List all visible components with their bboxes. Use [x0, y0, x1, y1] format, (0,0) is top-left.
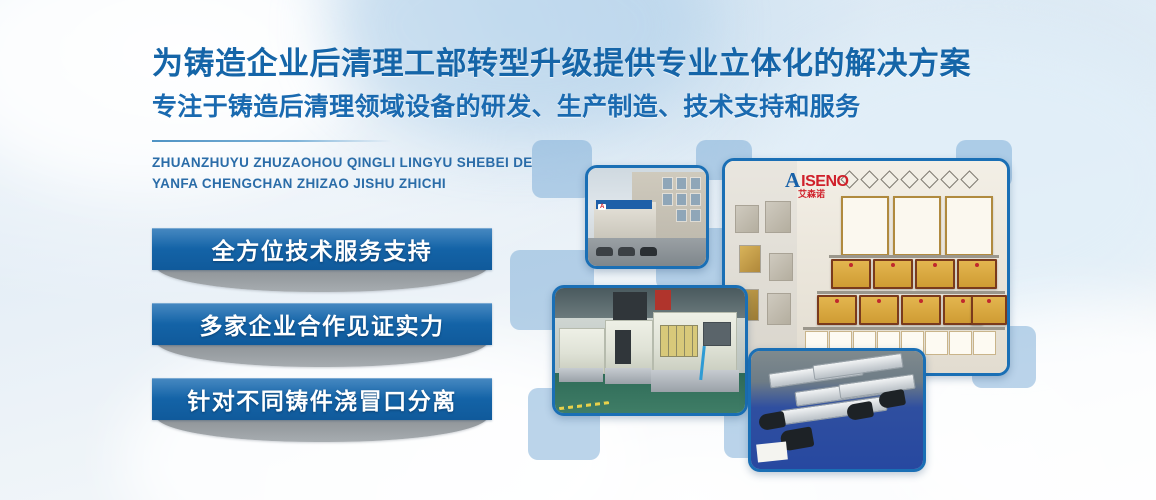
feature-ribbon-list: 全方位技术服务支持 多家企业合作见证实力 针对不同铸件浇冒口分离 [152, 228, 524, 454]
divider-rule [152, 140, 392, 142]
deco-block [532, 140, 592, 198]
feature-label: 多家企业合作见证实力 [200, 307, 445, 341]
photo-honor-wall[interactable]: A ISENO 艾森诺 荣誉证书展示墙 [722, 158, 1010, 376]
ribbon-bar: 全方位技术服务支持 [152, 228, 492, 270]
feature-label: 针对不同铸件浇冒口分离 [187, 382, 457, 416]
ribbon-bar: 针对不同铸件浇冒口分离 [152, 378, 492, 420]
ribbon-bar: 多家企业合作见证实力 [152, 303, 492, 345]
photo-products-tools[interactable]: 气动工具产品陈列 [748, 348, 926, 472]
brand-name-chinese: 艾森诺 [798, 187, 825, 200]
feature-label: 全方位技术服务支持 [212, 232, 433, 266]
headline-block: 为铸造企业后清理工部转型升级提供专业立体化的解决方案 专注于铸造后清理领域设备的… [152, 46, 552, 194]
headline-primary: 为铸造企业后清理工部转型升级提供专业立体化的解决方案 [152, 46, 552, 83]
promo-banner: 为铸造企业后清理工部转型升级提供专业立体化的解决方案 专注于铸造后清理领域设备的… [0, 0, 1156, 500]
photo-cnc-workshop[interactable]: 数控加工车间 [552, 285, 748, 416]
feature-ribbon-2[interactable]: 多家企业合作见证实力 [152, 303, 492, 379]
feature-ribbon-3[interactable]: 针对不同铸件浇冒口分离 [152, 378, 492, 454]
photo-factory-building[interactable]: A 公司厂房外景 [585, 165, 709, 269]
pinyin-line-1: ZHUANZHUYU ZHUZAOHOU QINGLI LINGYU SHEBE… [152, 153, 552, 174]
headline-secondary: 专注于铸造后清理领域设备的研发、生产制造、技术支持和服务 [152, 92, 552, 122]
feature-ribbon-1[interactable]: 全方位技术服务支持 [152, 228, 492, 304]
logo-mark-small: A [598, 204, 606, 210]
pinyin-line-2: YANFA CHENGCHAN ZHIZAO JISHU ZHICHI [152, 174, 552, 195]
brand-logo: A ISENO 艾森诺 [785, 171, 848, 190]
photo-collage: A 公司厂房外景 [510, 140, 1070, 470]
